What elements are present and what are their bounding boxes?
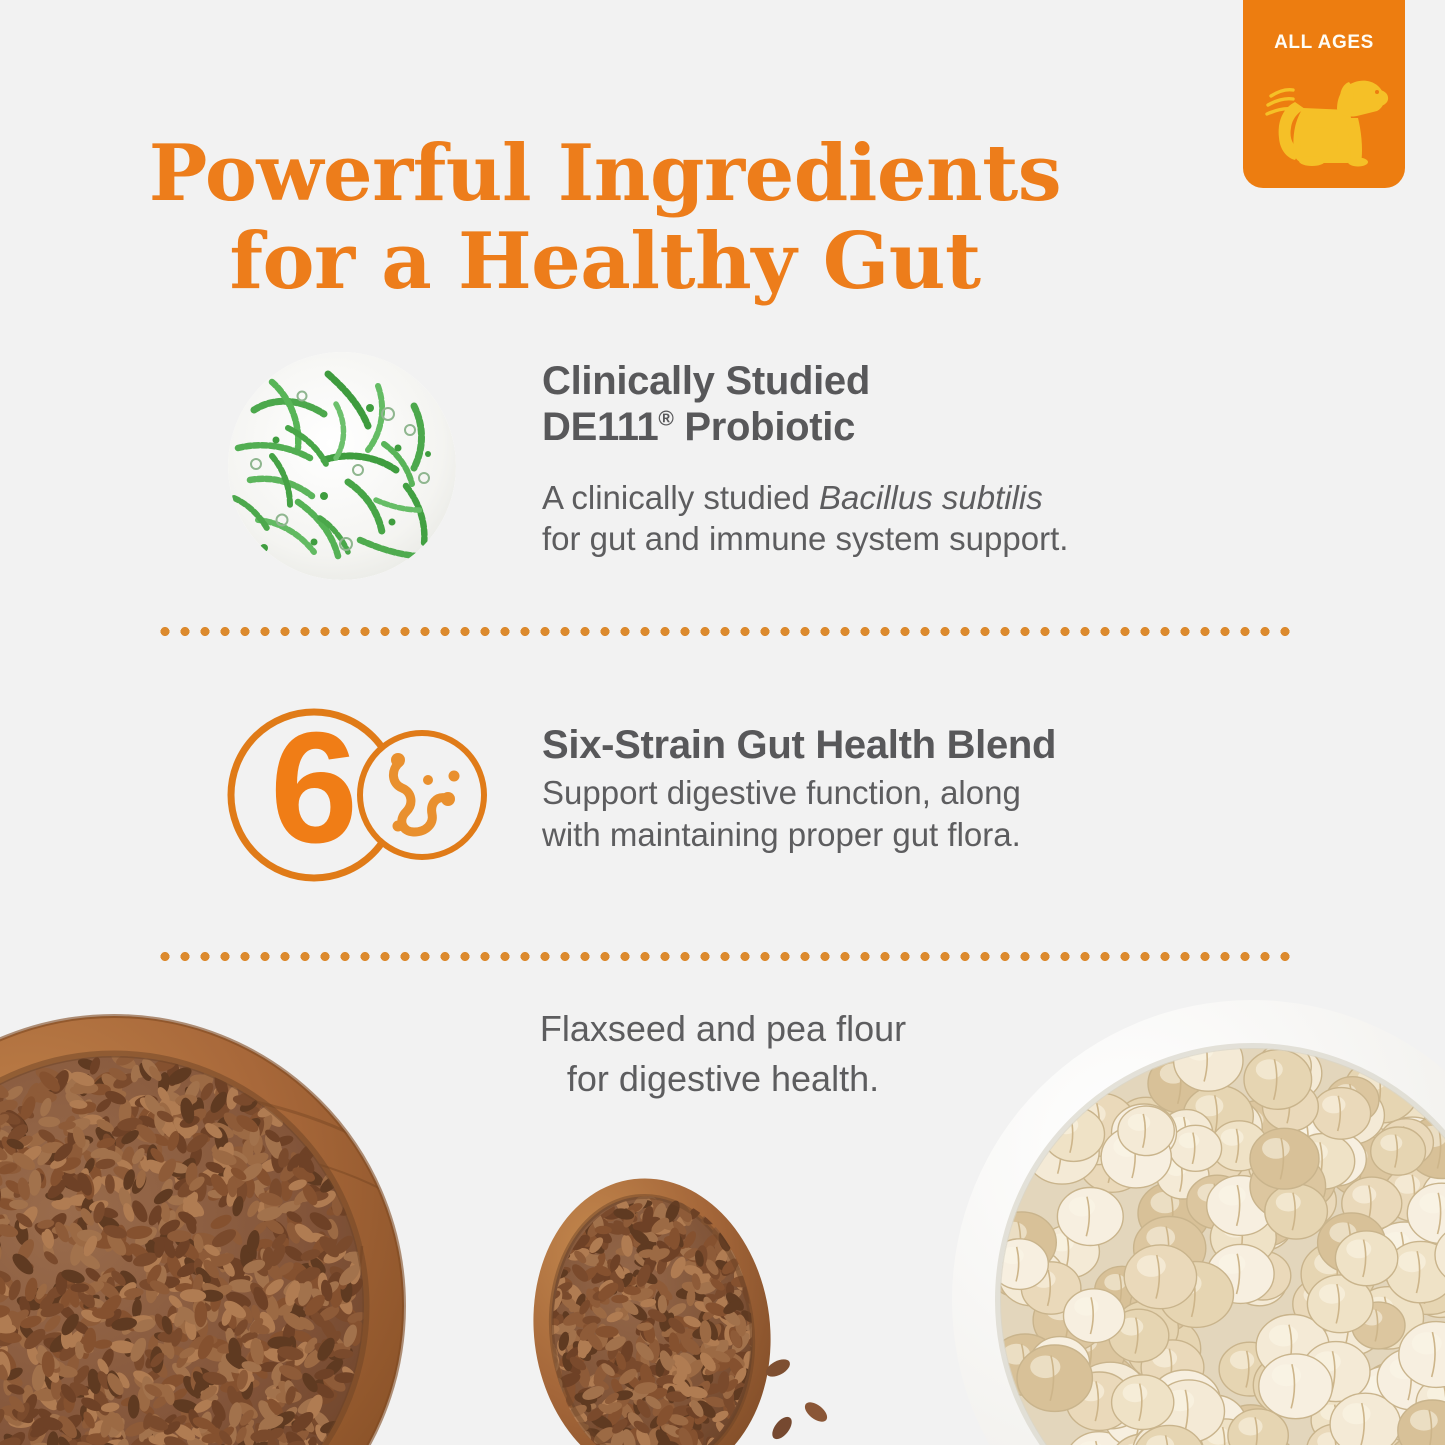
sitting-dog-icon [1257, 62, 1391, 174]
feature-1-heading-probiotic: Probiotic [674, 405, 855, 449]
feature-2-body: Support digestive function, along with m… [542, 772, 1056, 855]
feature-1-heading-regular: DE111® Probiotic [542, 404, 1068, 450]
feature-2-text: Six-Strain Gut Health Blend Support dige… [542, 700, 1056, 856]
feature-1-body-line-2: for gut and immune system support. [542, 518, 1068, 560]
microscope-bacteria-photo [228, 352, 456, 580]
page-title: Powerful Ingredients for a Healthy Gut [0, 130, 1210, 305]
registered-mark-icon: ® [658, 408, 673, 431]
wooden-spoon-flaxseed-photo [520, 1160, 850, 1445]
feature-2-heading: Six-Strain Gut Health Blend [542, 722, 1056, 768]
feature-1-body-line-1-pre: A clinically studied [542, 479, 819, 516]
six-strain-number: 6 [270, 700, 358, 876]
white-bowl-chickpeas-photo [952, 1000, 1445, 1445]
infographic-canvas: ALL AGES [0, 0, 1445, 1445]
loose-flaxseeds [763, 1356, 830, 1443]
feature-six-strain-blend: 6 Six-Strain Gut Health Blend Support di [222, 700, 1056, 890]
all-ages-badge: ALL AGES [1243, 0, 1405, 188]
page-title-line-2: for a Healthy Gut [0, 218, 1210, 305]
feature-2-body-line-1: Support digestive function, along [542, 772, 1056, 814]
all-ages-badge-label: ALL AGES [1243, 32, 1405, 54]
feature-1-text: Clinically Studied DE111® Probiotic A cl… [542, 352, 1068, 560]
feature-clinically-studied: Clinically Studied DE111® Probiotic A cl… [228, 352, 1068, 580]
divider-1 [155, 627, 1291, 636]
page-title-line-1: Powerful Ingredients [149, 128, 1061, 219]
feature-1-heading-bold: Clinically Studied [542, 358, 1068, 404]
wooden-bowl-flaxseed-photo [0, 1006, 414, 1445]
feature-1-body-species-name: Bacillus subtilis [819, 479, 1043, 516]
divider-2 [155, 952, 1291, 961]
feature-1-heading-de111: DE111 [542, 405, 658, 449]
feature-2-body-line-2: with maintaining proper gut flora. [542, 814, 1056, 856]
six-strain-probiotic-icon: 6 [222, 700, 490, 890]
feature-1-body-line-1: A clinically studied Bacillus subtilis [542, 477, 1068, 519]
feature-1-body: A clinically studied Bacillus subtilis f… [542, 477, 1068, 560]
